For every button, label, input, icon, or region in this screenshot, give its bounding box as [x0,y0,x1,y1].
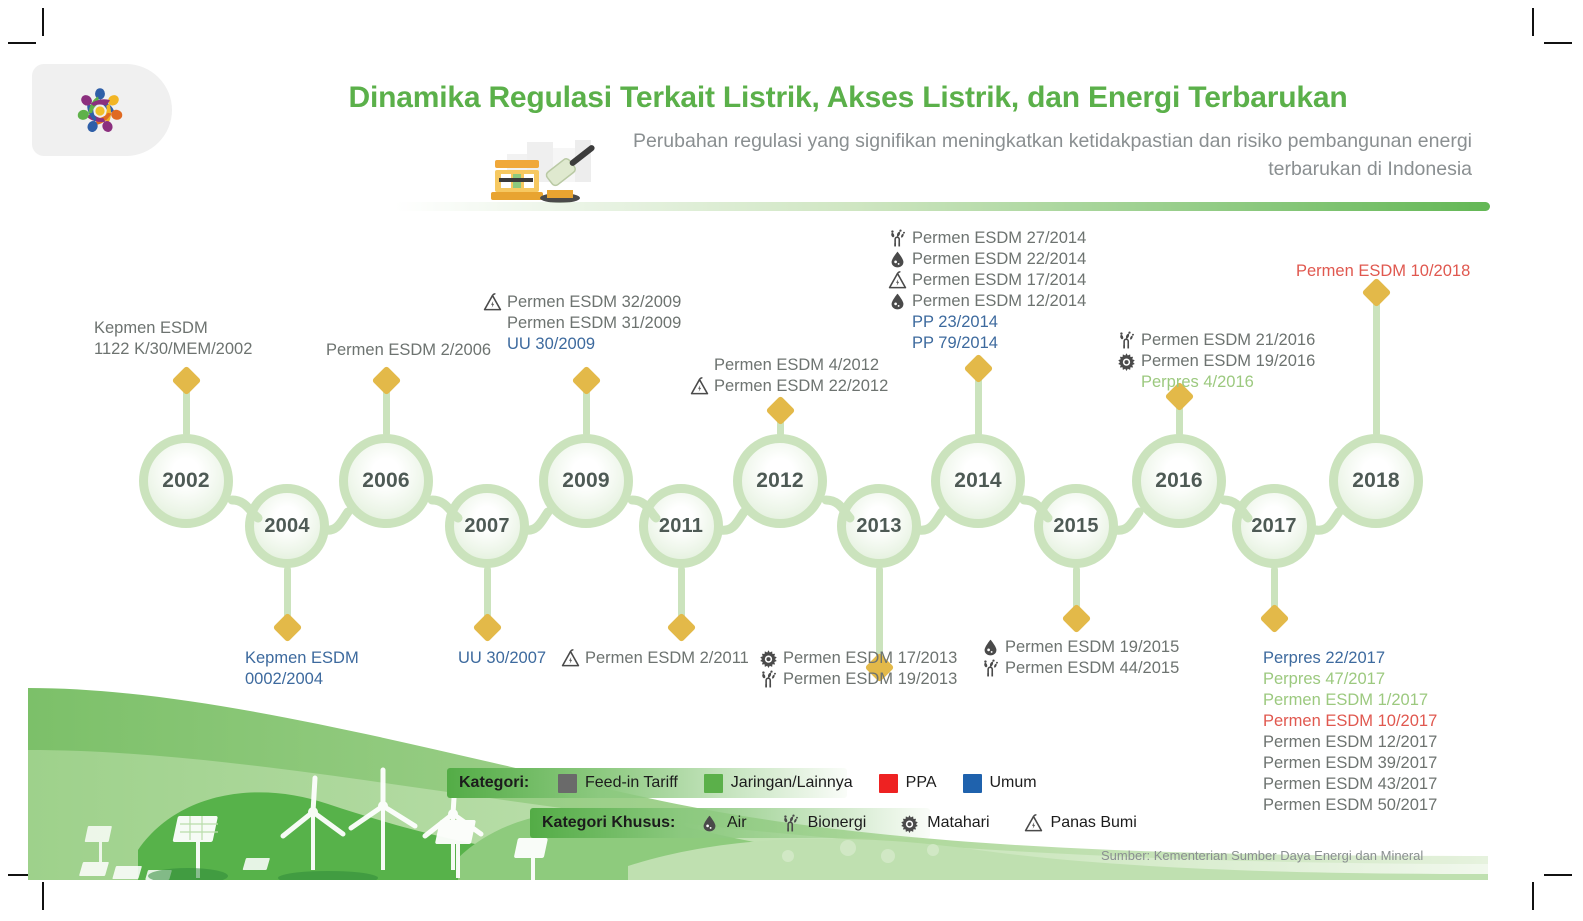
label-group-2015: Permen ESDM 19/2015Permen ESDM 44/2015 [981,637,1179,679]
spacer-icon [221,649,240,668]
timeline-node-2018[interactable]: 2018 [1329,434,1423,528]
regulation-item[interactable]: Permen ESDM 44/2015 [981,658,1179,679]
page-subtitle: Perubahan regulasi yang signifikan menin… [560,128,1472,183]
spacer-icon [1117,373,1136,392]
regulation-item[interactable]: Perpres 47/2017 [1239,669,1437,690]
label-group-2009: Permen ESDM 32/2009Permen ESDM 31/2009UU… [483,292,681,355]
regulation-label: Perpres 4/2016 [1141,372,1254,394]
regulation-label: PP 23/2014 [912,312,998,334]
header-gradient-rule [395,202,1490,211]
regulation-item[interactable]: Permen ESDM 27/2014 [888,228,1086,249]
regulation-label: 1122 K/30/MEM/2002 [94,339,252,361]
regulation-label: 0002/2004 [245,669,323,691]
regulation-label: Permen ESDM 10/2018 [1296,261,1470,283]
regulation-label: PP 79/2014 [912,333,998,355]
regulation-label: Permen ESDM 10/2017 [1263,711,1437,733]
label-group-2013: Permen ESDM 17/2013Permen ESDM 19/2013 [759,648,957,690]
spacer-icon [1239,712,1258,731]
crop-mark-top-left-v [42,8,44,36]
legend-kategori-label: Kategori: [447,774,541,792]
regulation-item[interactable]: Permen ESDM 31/2009 [483,313,681,334]
regulation-item[interactable]: UU 30/2007 [434,648,546,669]
marker-2004 [273,613,303,643]
regulation-item[interactable]: Permen ESDM 22/2012 [690,376,888,397]
legend-color-swatch [879,774,898,793]
spacer-icon [690,356,709,375]
legend-special-item[interactable]: Panas Bumi [1024,814,1137,833]
spacer-icon [1239,733,1258,752]
legend-category-item[interactable]: Umum [963,774,1037,793]
regulation-item[interactable]: Permen ESDM 32/2009 [483,292,681,313]
marker-2002 [172,366,202,396]
regulation-label: UU 30/2007 [458,648,546,670]
regulation-label: Permen ESDM 22/2012 [714,376,888,398]
regulation-item[interactable]: Permen ESDM 39/2017 [1239,753,1437,774]
label-group-2006: Permen ESDM 2/2006 [302,340,491,361]
label-group-2017: Perpres 22/2017Perpres 47/2017Permen ESD… [1239,648,1437,816]
marker-2012 [766,396,796,426]
regulation-item[interactable]: Permen ESDM 19/2015 [981,637,1179,658]
timeline-node-2015[interactable]: 2015 [1034,484,1118,568]
regulation-item[interactable]: Permen ESDM 17/2013 [759,648,957,669]
regulation-item[interactable]: Permen ESDM 21/2016 [1117,330,1315,351]
marker-2015 [1062,604,1092,634]
regulation-item[interactable]: Permen ESDM 1/2017 [1239,690,1437,711]
regulation-item[interactable]: Permen ESDM 19/2013 [759,669,957,690]
source-note: Sumber: Kementerian Sumber Daya Energi d… [1101,848,1423,863]
regulation-item[interactable]: Perpres 4/2016 [1117,372,1315,393]
legend-color-swatch [704,774,723,793]
legend-special-label: Matahari [927,814,989,832]
spacer-icon [1239,670,1258,689]
regulation-item[interactable]: Perpres 22/2017 [1239,648,1437,669]
marker-2006 [372,366,402,396]
label-group-2018: Permen ESDM 10/2018 [1272,261,1470,282]
timeline-node-2013[interactable]: 2013 [837,484,921,568]
regulation-item[interactable]: UU 30/2009 [483,334,681,355]
regulation-label: Kepmen ESDM [245,648,359,670]
crop-mark-top-left-h [8,42,36,44]
crop-mark-bottom-right-h [1544,874,1572,876]
legend-special-item[interactable]: Matahari [900,814,989,833]
regulation-item[interactable]: Permen ESDM 19/2016 [1117,351,1315,372]
regulation-label: Permen ESDM 44/2015 [1005,658,1179,680]
stem-2018 [1373,296,1380,437]
legend-khusus-label: Kategori Khusus: [530,814,687,832]
spacer-icon [434,649,453,668]
spacer-icon [1239,649,1258,668]
regulation-label: Permen ESDM 21/2016 [1141,330,1315,352]
regulation-label: Permen ESDM 12/2014 [912,291,1086,313]
legend-special-item[interactable]: Air [700,814,747,833]
regulation-label: Permen ESDM 43/2017 [1263,774,1437,796]
legend-category-label: Jaringan/Lainnya [731,774,853,792]
legend-color-swatch [963,774,982,793]
spacer-icon [888,313,907,332]
legend-category-item[interactable]: Feed-in Tariff [558,774,678,793]
spacer-icon [1239,754,1258,773]
regulation-label: UU 30/2009 [507,334,595,356]
spacer-icon [483,314,502,333]
crop-mark-top-right-h [1544,42,1572,44]
spacer-icon [221,670,240,689]
timeline-node-2006[interactable]: 2006 [339,434,433,528]
regulation-label: Permen ESDM 1/2017 [1263,690,1428,712]
legend-special-item[interactable]: Bionergi [781,814,867,833]
regulation-item[interactable]: Permen ESDM 17/2014 [888,270,1086,291]
legend-kategori-items: Feed-in TariffJaringan/LainnyaPPAUmum [558,768,1063,798]
regulation-item[interactable]: Permen ESDM 2/2011 [561,648,749,669]
legend-special-label: Bionergi [808,814,867,832]
label-group-2011: Permen ESDM 2/2011 [561,648,749,669]
spacer-icon [70,340,89,359]
regulation-label: Permen ESDM 19/2016 [1141,351,1315,373]
regulation-label: Permen ESDM 17/2013 [783,648,957,670]
spacer-icon [1239,796,1258,815]
timeline-node-2016[interactable]: 2016 [1132,434,1226,528]
regulation-item[interactable]: Permen ESDM 10/2017 [1239,711,1437,732]
regulation-item[interactable]: Permen ESDM 50/2017 [1239,795,1437,816]
marker-2014 [964,354,994,384]
timeline-node-2004[interactable]: 2004 [245,484,329,568]
regulation-label: Permen ESDM 50/2017 [1263,795,1437,817]
legend-category-item[interactable]: PPA [879,774,937,793]
spacer-icon [302,341,321,360]
page-title: Dinamika Regulasi Terkait Listrik, Akses… [188,80,1508,116]
regulation-item[interactable]: Permen ESDM 22/2014 [888,249,1086,270]
timeline-node-2009[interactable]: 2009 [539,434,633,528]
regulation-item[interactable]: Kepmen ESDM [70,318,252,339]
legend-khusus-items: AirBionergiMatahariPanas Bumi [700,808,1171,838]
regulation-label: Permen ESDM 22/2014 [912,249,1086,271]
regulation-label: Permen ESDM 12/2017 [1263,732,1437,754]
marker-2009 [572,366,602,396]
marker-2007 [473,613,503,643]
organization-logo-icon [62,78,138,144]
timeline-node-2012[interactable]: 2012 [733,434,827,528]
regulation-label: Perpres 47/2017 [1263,669,1385,691]
spacer-icon [1239,775,1258,794]
regulation-item[interactable]: Kepmen ESDM [221,648,359,669]
crop-mark-bottom-right-v [1532,882,1534,910]
timeline-node-2017[interactable]: 2017 [1232,484,1316,568]
label-group-2012: Permen ESDM 4/2012Permen ESDM 22/2012 [690,355,888,397]
label-group-2002: Kepmen ESDM1122 K/30/MEM/2002 [70,318,252,360]
regulation-label: Kepmen ESDM [94,318,208,340]
label-group-2016: Permen ESDM 21/2016Permen ESDM 19/2016Pe… [1117,330,1315,393]
regulation-item[interactable]: Permen ESDM 43/2017 [1239,774,1437,795]
legend-category-label: Feed-in Tariff [585,774,678,792]
regulation-item[interactable]: Permen ESDM 12/2014 [888,291,1086,312]
regulation-label: Permen ESDM 4/2012 [714,355,879,377]
legend-special-label: Panas Bumi [1051,814,1137,832]
regulation-label: Perpres 22/2017 [1263,648,1385,670]
gavel-regulation-icon [487,140,607,208]
marker-2011 [667,613,697,643]
regulation-label: Permen ESDM 27/2014 [912,228,1086,250]
spacer-icon [1272,262,1291,281]
regulation-label: Permen ESDM 19/2013 [783,669,957,691]
regulation-label: Permen ESDM 31/2009 [507,313,681,335]
regulation-item[interactable]: Permen ESDM 4/2012 [690,355,888,376]
spacer-icon [70,319,89,338]
label-group-2014: Permen ESDM 27/2014Permen ESDM 22/2014Pe… [888,228,1086,354]
regulation-item[interactable]: PP 23/2014 [888,312,1086,333]
timeline-node-2014[interactable]: 2014 [931,434,1025,528]
legend-color-swatch [558,774,577,793]
regulation-item[interactable]: Permen ESDM 10/2018 [1272,261,1470,282]
regulation-label: Permen ESDM 39/2017 [1263,753,1437,775]
regulation-label: Permen ESDM 2/2006 [326,340,491,362]
label-group-2007: UU 30/2007 [434,648,546,669]
timeline-node-2002[interactable]: 2002 [139,434,233,528]
legend-category-label: Umum [990,774,1037,792]
legend-category-label: PPA [906,774,937,792]
label-group-2004: Kepmen ESDM0002/2004 [221,648,359,690]
spacer-icon [483,335,502,354]
regulation-label: Permen ESDM 32/2009 [507,292,681,314]
legend-special-label: Air [727,814,747,832]
regulation-item[interactable]: 0002/2004 [221,669,359,690]
regulation-item[interactable]: 1122 K/30/MEM/2002 [70,339,252,360]
timeline-node-2007[interactable]: 2007 [445,484,529,568]
crop-mark-top-right-v [1532,8,1534,36]
regulation-item[interactable]: PP 79/2014 [888,333,1086,354]
legend-category-item[interactable]: Jaringan/Lainnya [704,774,853,793]
regulation-label: Permen ESDM 19/2015 [1005,637,1179,659]
regulation-item[interactable]: Permen ESDM 2/2006 [302,340,491,361]
marker-2017 [1260,604,1290,634]
spacer-icon [888,334,907,353]
spacer-icon [1239,691,1258,710]
regulation-label: Permen ESDM 17/2014 [912,270,1086,292]
infographic-page: Dinamika Regulasi Terkait Listrik, Akses… [0,0,1583,921]
regulation-label: Permen ESDM 2/2011 [585,648,749,670]
timeline-node-2011[interactable]: 2011 [639,484,723,568]
regulation-item[interactable]: Permen ESDM 12/2017 [1239,732,1437,753]
crop-mark-bottom-left-v [42,882,44,910]
